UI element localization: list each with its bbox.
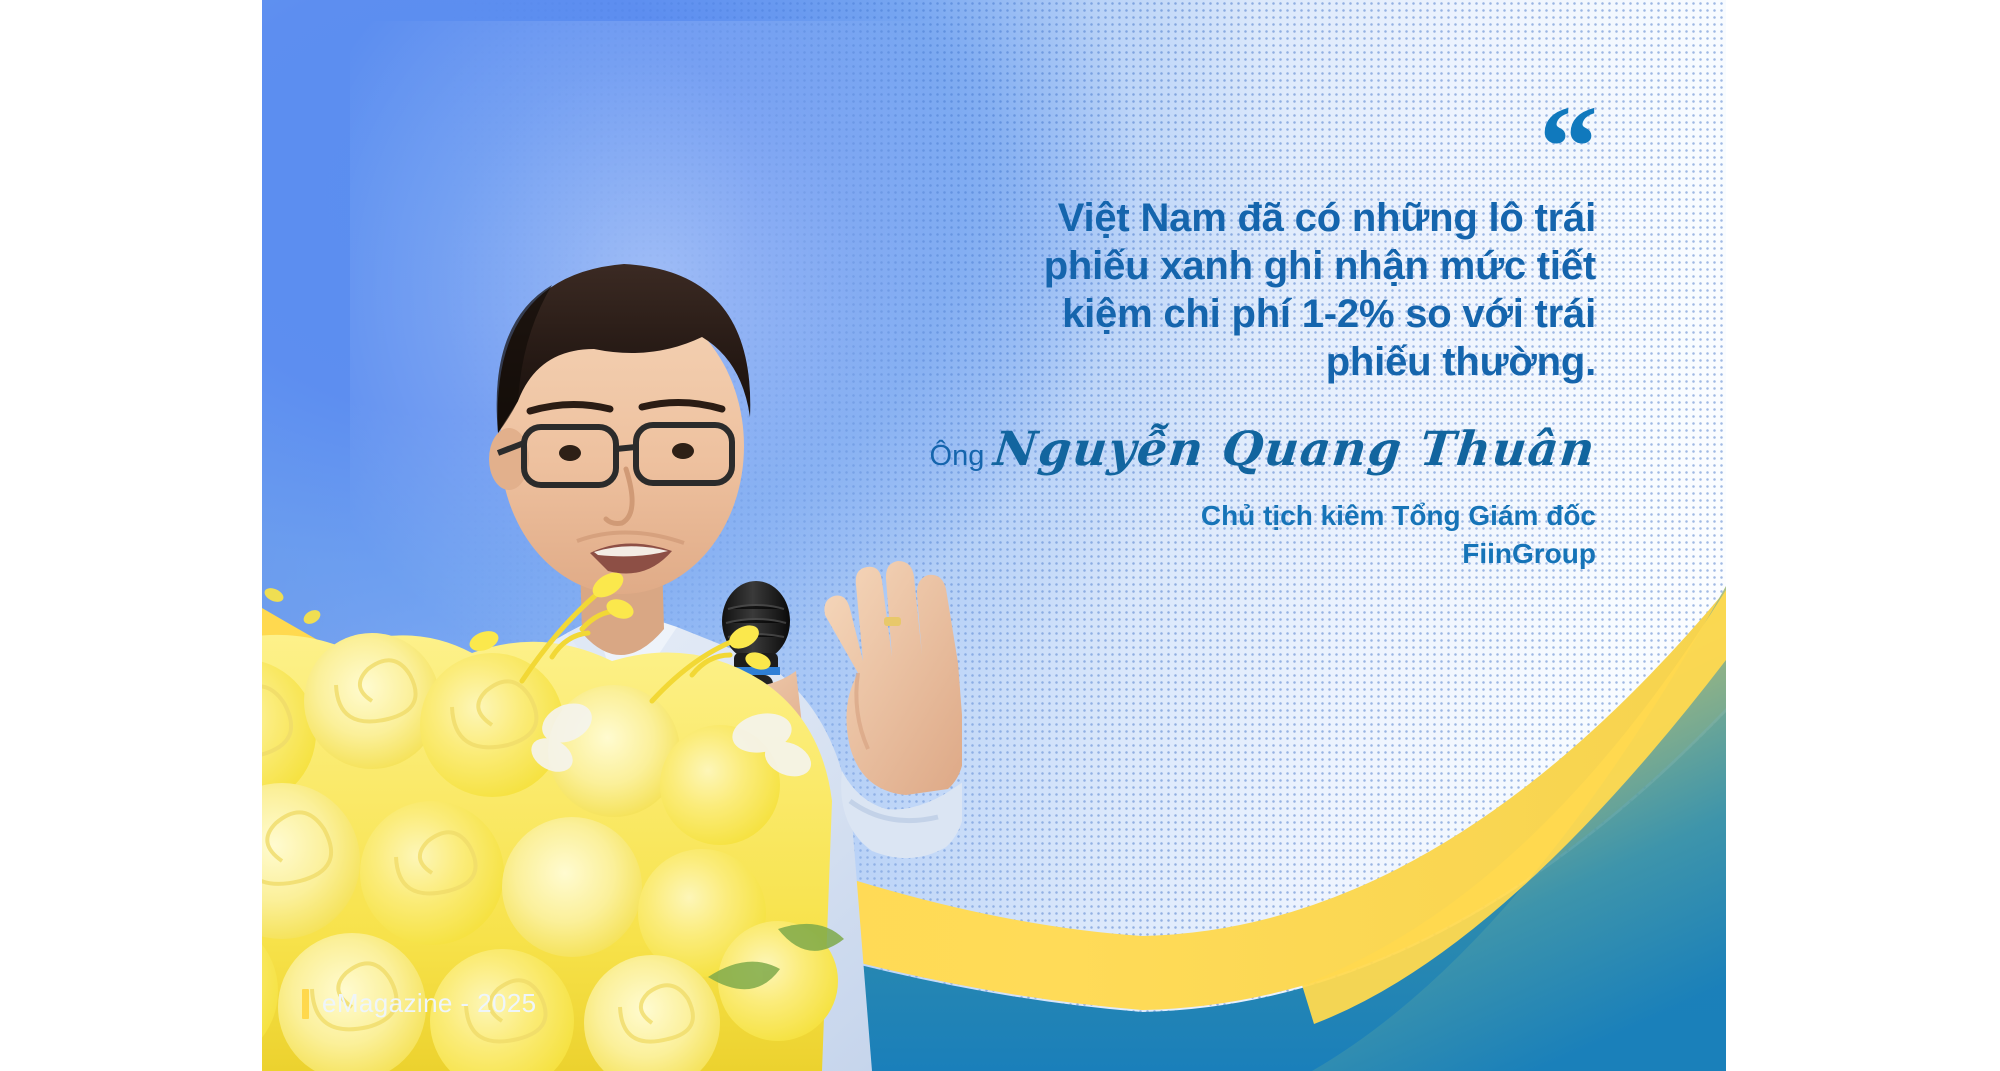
attribution-role: Chủ tịch kiêm Tổng Giám đốc	[956, 497, 1596, 535]
attribution-prefix: Ông	[930, 440, 985, 473]
attribution-organization: FiinGroup	[956, 535, 1596, 573]
quote-line: phiếu thường.	[956, 338, 1596, 386]
attribution-name-row: Ông Nguyễn Quang Thuân	[956, 422, 1596, 477]
emagazine-quote-card: “ Việt Nam đã có những lô trái phiếu xan…	[262, 0, 1726, 1071]
quote-line: kiệm chi phí 1-2% so với trái	[956, 290, 1596, 338]
footer-accent-bar-icon	[302, 989, 309, 1019]
speaker-photo	[262, 61, 962, 1071]
page-canvas: “ Việt Nam đã có những lô trái phiếu xan…	[0, 0, 2000, 1071]
quote-text: Việt Nam đã có những lô trái phiếu xanh …	[956, 194, 1596, 386]
quote-line: Việt Nam đã có những lô trái	[956, 194, 1596, 242]
quote-line: phiếu xanh ghi nhận mức tiết	[956, 242, 1596, 290]
quote-block: “ Việt Nam đã có những lô trái phiếu xan…	[956, 110, 1596, 573]
quote-mark-icon: “	[956, 110, 1596, 180]
footer: eMagazine - 2025	[302, 988, 537, 1019]
attribution-signature: Nguyễn Quang Thuân	[991, 422, 1598, 477]
footer-label: eMagazine - 2025	[322, 988, 537, 1019]
